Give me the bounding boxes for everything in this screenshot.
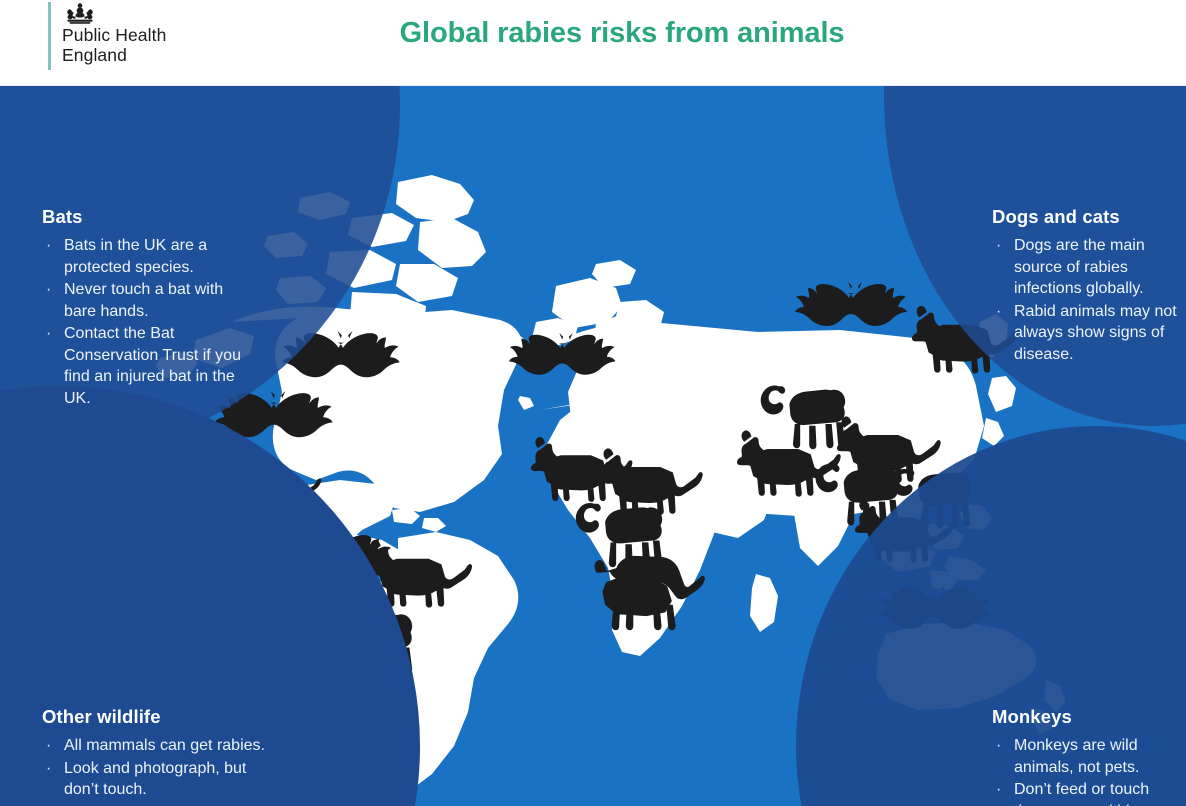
bullet-icon: ·: [996, 301, 1001, 323]
world-map-panel: Bats ·Bats in the UK are a protected spe…: [0, 86, 1186, 806]
bat-icon-asia-siberia: [795, 282, 907, 326]
info-block-monkeys-heading: Monkeys: [992, 706, 1186, 728]
list-item-text: Dogs are the main source of rabies infec…: [1014, 237, 1145, 297]
list-item-text: Look and photograph, but don’t touch.: [64, 760, 246, 799]
infographic-page: Public Health England Global rabies risk…: [0, 0, 1186, 806]
bullet-icon: ·: [46, 235, 51, 257]
page-header: Public Health England Global rabies risk…: [0, 0, 1186, 86]
list-item-text: Bats in the UK are a protected species.: [64, 237, 207, 276]
bullet-icon: ·: [996, 735, 1001, 757]
info-block-dogs-list: ·Dogs are the main source of rabies infe…: [992, 235, 1186, 365]
info-block-monkeys-list: ·Monkeys are wild animals, not pets. ·Do…: [992, 735, 1186, 806]
bat-icon-australia: [878, 585, 990, 629]
bullet-icon: ·: [996, 235, 1001, 257]
info-block-bats-heading: Bats: [42, 206, 257, 228]
info-block-monkeys: Monkeys ·Monkeys are wild animals, not p…: [992, 706, 1186, 806]
list-item-text: Rabid animals may not always show signs …: [1014, 303, 1177, 363]
list-item: ·Monkeys are wild animals, not pets.: [992, 735, 1186, 778]
bullet-icon: ·: [996, 779, 1001, 801]
bullet-icon: ·: [46, 735, 51, 757]
info-block-bats: Bats ·Bats in the UK are a protected spe…: [42, 206, 257, 410]
info-block-other-wildlife: Other wildlife ·All mammals can get rabi…: [42, 706, 282, 802]
list-item: ·Contact the Bat Conservation Trust if y…: [42, 323, 257, 409]
info-block-dogs-heading: Dogs and cats: [992, 206, 1186, 228]
info-block-wildlife-heading: Other wildlife: [42, 706, 282, 728]
bullet-icon: ·: [46, 279, 51, 301]
list-item-text: All mammals can get rabies.: [64, 737, 265, 754]
bullet-icon: ·: [46, 758, 51, 780]
list-item: ·Look and photograph, but don’t touch.: [42, 758, 282, 801]
list-item: ·Never touch a bat with bare hands.: [42, 279, 257, 322]
list-item: ·All mammals can get rabies.: [42, 735, 282, 757]
list-item: ·Dogs are the main source of rabies infe…: [992, 235, 1186, 300]
world-map-svg: [0, 86, 1186, 806]
list-item-text: Don’t feed or touch them, even within te…: [1014, 781, 1149, 806]
list-item: ·Bats in the UK are a protected species.: [42, 235, 257, 278]
list-item: ·Rabid animals may not always show signs…: [992, 301, 1186, 366]
info-block-bats-list: ·Bats in the UK are a protected species.…: [42, 235, 257, 409]
list-item-text: Never touch a bat with bare hands.: [64, 281, 223, 320]
info-block-dogs-and-cats: Dogs and cats ·Dogs are the main source …: [992, 206, 1186, 366]
page-title: Global rabies risks from animals: [0, 17, 1186, 50]
list-item-text: Contact the Bat Conservation Trust if yo…: [64, 325, 241, 407]
info-block-wildlife-list: ·All mammals can get rabies. ·Look and p…: [42, 735, 282, 801]
list-item: ·Don’t feed or touch them, even within t…: [992, 779, 1186, 806]
list-item-text: Monkeys are wild animals, not pets.: [1014, 737, 1139, 776]
bullet-icon: ·: [46, 323, 51, 345]
monkey-icon-south-america: [326, 610, 412, 675]
